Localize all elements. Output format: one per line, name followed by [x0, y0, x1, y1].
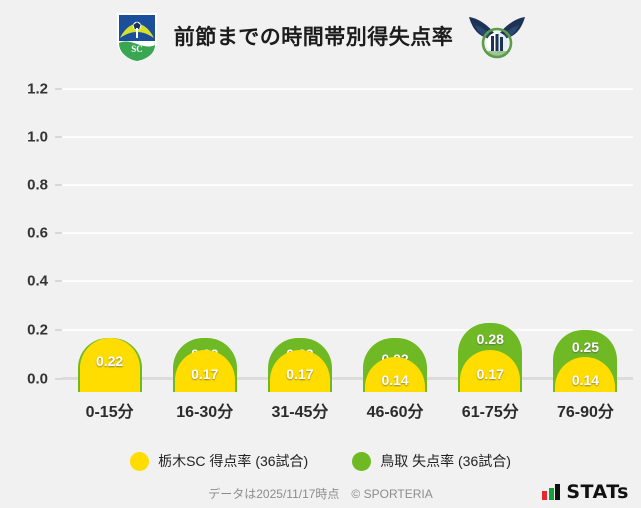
bar-yellow-label: 0.14	[572, 372, 599, 388]
logo-wordmark: STATs	[566, 484, 629, 500]
y-tickmark	[55, 329, 62, 331]
x-tick-label: 61-75分	[443, 398, 538, 424]
logo-bar-black	[555, 484, 560, 500]
bar-yellow-label: 0.17	[191, 366, 218, 382]
tochigi-sc-crest-icon: SC	[114, 10, 160, 64]
bar-slot[interactable]: 0.22 0.17	[252, 74, 347, 395]
bar-yellow-label: 0.22	[96, 353, 123, 369]
bar-slot[interactable]: 0.22 0.14	[348, 74, 443, 395]
logo-bar-red	[542, 491, 547, 500]
plot-area: 1.2 1.0 0.8 0.6 0.4 0.2 0.0	[0, 74, 641, 395]
x-tick-label: 16-30分	[157, 398, 252, 424]
y-tick-label: 0.8	[27, 177, 48, 194]
x-axis: 0-15分 16-30分 31-45分 46-60分 61-75分 76-90分	[62, 398, 633, 424]
y-tickmark	[55, 280, 62, 282]
bar-slot[interactable]: 0.28 0.17	[443, 74, 538, 395]
y-tick-label: 0.2	[27, 322, 48, 339]
y-tickmark	[55, 88, 62, 90]
y-axis: 1.2 1.0 0.8 0.6 0.4 0.2 0.0	[0, 74, 62, 395]
data-source-note: データは2025/11/17時点 © SPORTERIA	[208, 485, 432, 502]
grid-area: 0.22 0.22 0.22 0.17 0.22 0.17	[62, 74, 633, 395]
bar-slot[interactable]: 0.22 0.17	[157, 74, 252, 395]
bar-yellow-label: 0.14	[381, 372, 408, 388]
y-tick-label: 0.0	[27, 371, 48, 388]
legend-swatch-yellow-icon	[130, 452, 149, 471]
chart-legend: 栃木SC 得点率 (36試合) 鳥取 失点率 (36試合)	[0, 444, 641, 478]
chart-page: SC 前節までの時間帯別得失点率 1.2 1.0 0.8 0.6 0.4 0.2…	[0, 0, 641, 508]
y-tick-label: 1.2	[27, 81, 48, 98]
bar-green-label: 0.25	[572, 339, 599, 355]
bar-green-label: 0.28	[477, 331, 504, 347]
bar-slot[interactable]: 0.25 0.14	[538, 74, 633, 395]
y-tick-label: 0.4	[27, 273, 48, 290]
y-tick-label: 0.6	[27, 225, 48, 242]
x-tick-label: 46-60分	[348, 398, 443, 424]
bar-group: 0.22 0.22 0.22 0.17 0.22 0.17	[62, 74, 633, 395]
gainare-tottori-crest-icon	[467, 11, 527, 63]
legend-label: 栃木SC 得点率 (36試合)	[158, 451, 308, 471]
x-tick-label: 76-90分	[538, 398, 633, 424]
y-tickmark	[55, 136, 62, 138]
legend-swatch-green-icon	[352, 452, 371, 471]
chart-footer: データは2025/11/17時点 © SPORTERIA STATs	[0, 482, 641, 508]
svg-text:SC: SC	[131, 44, 143, 54]
chart-header: SC 前節までの時間帯別得失点率	[0, 0, 641, 74]
legend-item-tochigi[interactable]: 栃木SC 得点率 (36試合)	[130, 451, 308, 471]
legend-item-tottori[interactable]: 鳥取 失点率 (36試合)	[352, 451, 511, 471]
bar-yellow-label: 0.17	[477, 366, 504, 382]
y-tickmark	[55, 378, 62, 380]
bar-chart-icon	[542, 484, 560, 500]
x-tick-label: 31-45分	[252, 398, 347, 424]
sporteria-stats-logo: STATs	[542, 484, 629, 500]
x-tick-label: 0-15分	[62, 398, 157, 424]
logo-bar-green	[549, 488, 554, 500]
legend-label: 鳥取 失点率 (36試合)	[380, 451, 511, 471]
bar-slot[interactable]: 0.22 0.22	[62, 74, 157, 395]
y-tickmark	[55, 184, 62, 186]
y-tickmark	[55, 232, 62, 234]
page-title: 前節までの時間帯別得失点率	[174, 27, 454, 48]
y-tick-label: 1.0	[27, 129, 48, 146]
bar-yellow-label: 0.17	[286, 366, 313, 382]
